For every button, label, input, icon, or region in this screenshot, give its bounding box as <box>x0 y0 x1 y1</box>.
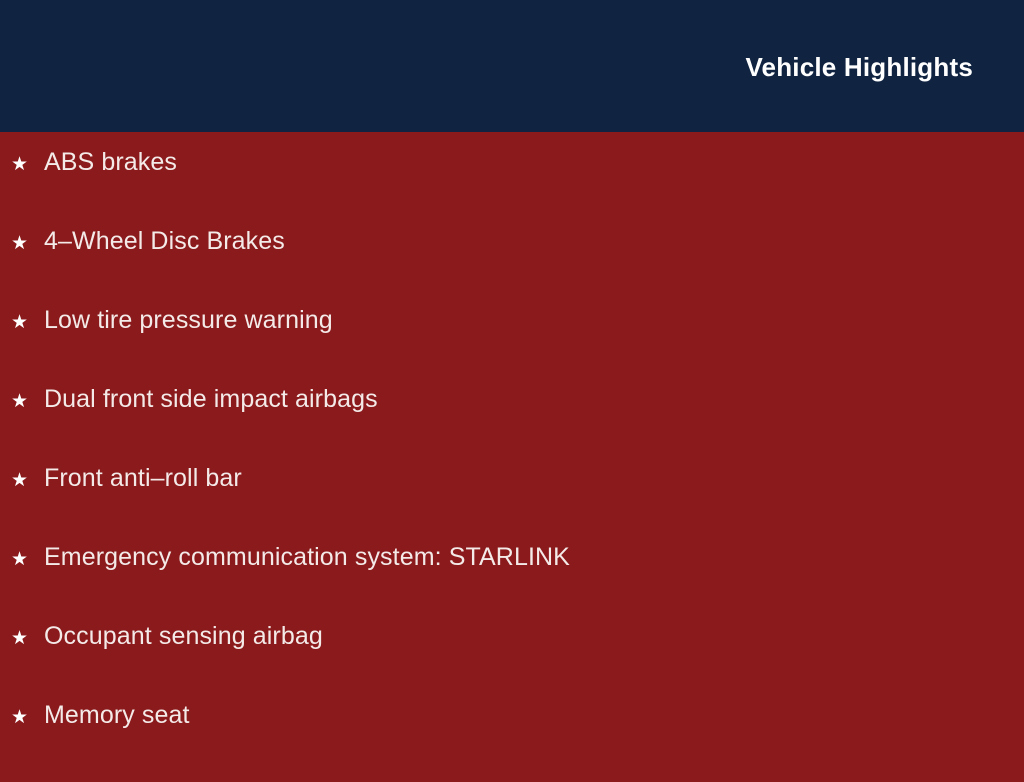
list-item-label: Memory seat <box>44 703 190 728</box>
star-icon: ★ <box>11 708 44 727</box>
list-item-label: 4–Wheel Disc Brakes <box>44 229 285 254</box>
list-item-label: ABS brakes <box>44 150 177 175</box>
vehicle-highlights-slide: Vehicle Highlights ★ ABS brakes ★ 4–Whee… <box>0 0 1024 768</box>
list-item: ★ Dual front side impact airbags <box>0 387 1024 466</box>
list-item-label: Low tire pressure warning <box>44 308 333 333</box>
vehicle-feature-list: ★ ABS brakes ★ 4–Wheel Disc Brakes ★ Low… <box>0 150 1024 782</box>
star-icon: ★ <box>11 471 44 490</box>
star-icon: ★ <box>11 234 44 253</box>
list-item: ★ Low tire pressure warning <box>0 308 1024 387</box>
star-icon: ★ <box>11 155 44 174</box>
list-item: ★ Front anti–roll bar <box>0 466 1024 545</box>
highlights-body: ★ ABS brakes ★ 4–Wheel Disc Brakes ★ Low… <box>0 132 1024 768</box>
star-icon: ★ <box>11 550 44 569</box>
list-item-label: Dual front side impact airbags <box>44 387 378 412</box>
star-icon: ★ <box>11 629 44 648</box>
list-item-label: Front anti–roll bar <box>44 466 242 491</box>
list-item: ★ ABS brakes <box>0 150 1024 229</box>
list-item-label: Emergency communication system: STARLINK <box>44 545 570 570</box>
star-icon: ★ <box>11 313 44 332</box>
page-title: Vehicle Highlights <box>745 54 973 80</box>
list-item: ★ Memory seat <box>0 703 1024 782</box>
slide-header: Vehicle Highlights <box>0 0 1024 132</box>
list-item-label: Occupant sensing airbag <box>44 624 323 649</box>
list-item: ★ Occupant sensing airbag <box>0 624 1024 703</box>
list-item: ★ Emergency communication system: STARLI… <box>0 545 1024 624</box>
star-icon: ★ <box>11 392 44 411</box>
list-item: ★ 4–Wheel Disc Brakes <box>0 229 1024 308</box>
